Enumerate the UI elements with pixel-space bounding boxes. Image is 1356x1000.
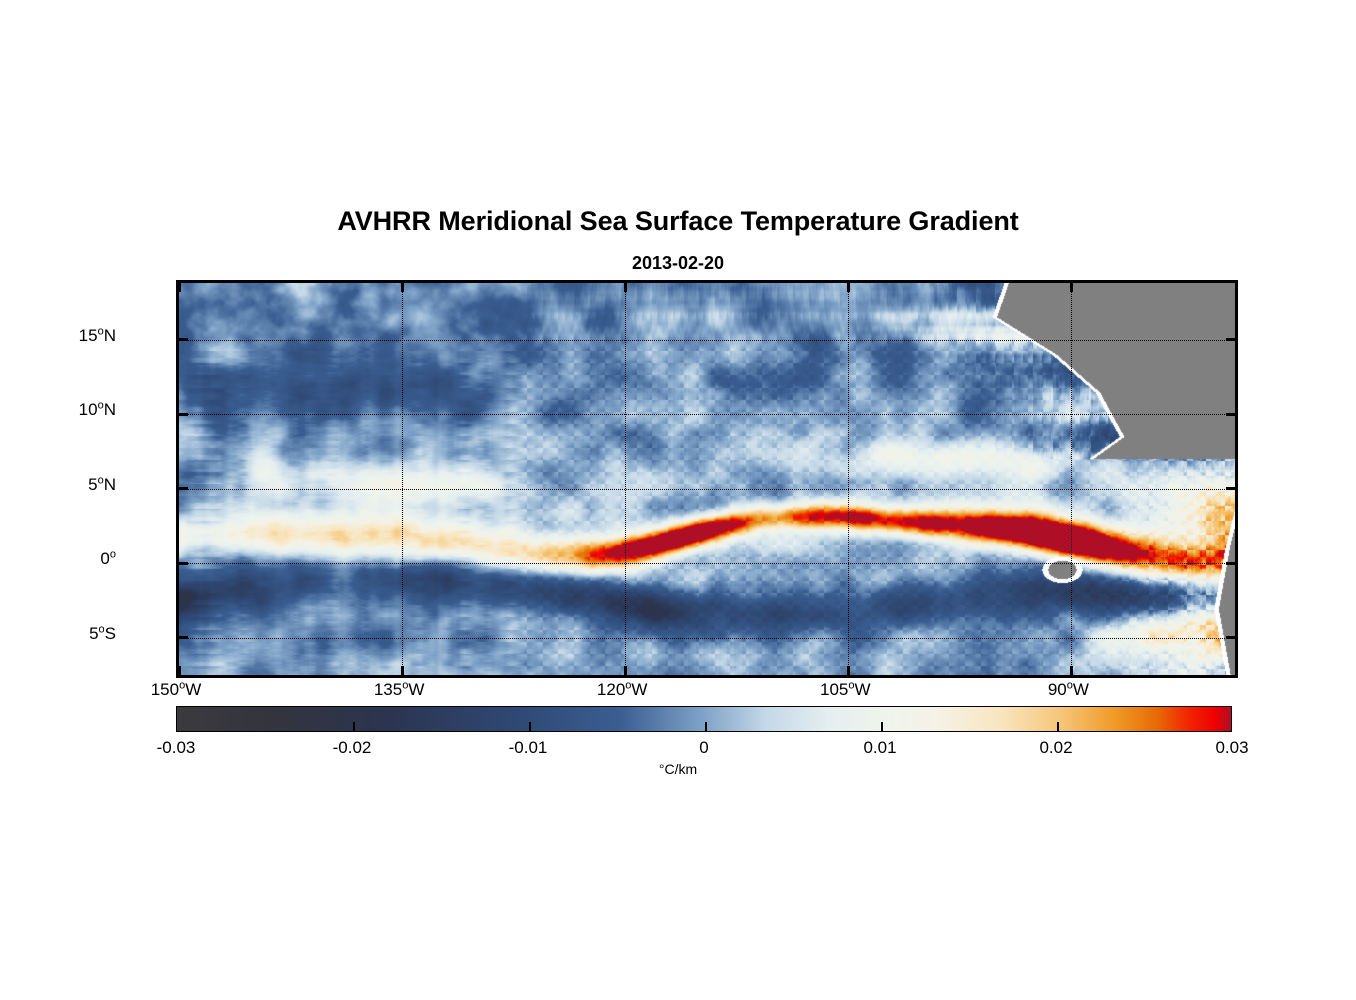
sst-gradient-heatmap bbox=[179, 283, 1235, 675]
figure-subtitle: 2013-02-20 bbox=[0, 253, 1356, 274]
tick-mark-lon bbox=[401, 666, 404, 675]
tick-mark-lon bbox=[1070, 666, 1073, 675]
y-axis-label-5S: 5oS bbox=[0, 624, 116, 644]
tick-mark-lat bbox=[1226, 338, 1235, 341]
y-axis-label-5N: 5oN bbox=[0, 475, 116, 495]
colorbar-label-4: 0.01 bbox=[815, 738, 945, 758]
page-title: AVHRR Meridional Sea Surface Temperature… bbox=[0, 206, 1356, 237]
colorbar-label-5: 0.02 bbox=[991, 738, 1121, 758]
gridline-lat bbox=[179, 414, 1235, 415]
colorbar bbox=[176, 706, 1232, 732]
tick-mark-lon bbox=[178, 283, 181, 292]
x-axis-label-120W: 120oW bbox=[562, 680, 682, 700]
y-axis-label-15N: 15oN bbox=[0, 326, 116, 346]
x-axis-label-105W: 105oW bbox=[785, 680, 905, 700]
colorbar-label-2: -0.01 bbox=[463, 738, 593, 758]
tick-mark-lat bbox=[179, 338, 188, 341]
tick-mark-lon bbox=[178, 666, 181, 675]
tick-mark-lat bbox=[1226, 636, 1235, 639]
colorbar-tick bbox=[1057, 722, 1059, 731]
colorbar-label-0: -0.03 bbox=[111, 738, 241, 758]
tick-mark-lon bbox=[1070, 283, 1073, 292]
gridline-lon bbox=[402, 283, 403, 675]
x-axis-label-150W: 150oW bbox=[116, 680, 236, 700]
colorbar-label-3: 0 bbox=[639, 738, 769, 758]
tick-mark-lon bbox=[624, 283, 627, 292]
tick-mark-lat bbox=[179, 562, 188, 565]
map-axes bbox=[176, 280, 1238, 678]
gridline-lat bbox=[179, 340, 1235, 341]
colorbar-tick bbox=[529, 722, 531, 731]
figure-canvas: AVHRR Meridional Sea Surface Temperature… bbox=[0, 0, 1356, 1000]
tick-mark-lat bbox=[179, 636, 188, 639]
gridline-lat bbox=[179, 638, 1235, 639]
tick-mark-lat bbox=[1226, 413, 1235, 416]
gridline-lon bbox=[625, 283, 626, 675]
tick-mark-lon bbox=[624, 666, 627, 675]
gridline-lon bbox=[848, 283, 849, 675]
tick-mark-lon bbox=[847, 666, 850, 675]
gridline-lat bbox=[179, 489, 1235, 490]
colorbar-label-6: 0.03 bbox=[1167, 738, 1297, 758]
gridline-lat bbox=[179, 563, 1235, 564]
tick-mark-lat bbox=[1226, 487, 1235, 490]
y-axis-label-10N: 10oN bbox=[0, 400, 116, 420]
tick-mark-lon bbox=[847, 283, 850, 292]
tick-mark-lat bbox=[179, 487, 188, 490]
colorbar-tick bbox=[881, 722, 883, 731]
colorbar-tick bbox=[705, 722, 707, 731]
x-axis-label-135W: 135oW bbox=[339, 680, 459, 700]
y-axis-label-0eq: 0o bbox=[0, 549, 116, 569]
colorbar-units-label: °C/km bbox=[0, 761, 1356, 777]
gridline-lon bbox=[1071, 283, 1072, 675]
tick-mark-lat bbox=[179, 413, 188, 416]
tick-mark-lat bbox=[1226, 562, 1235, 565]
colorbar-label-1: -0.02 bbox=[287, 738, 417, 758]
colorbar-gradient bbox=[177, 707, 1231, 731]
colorbar-tick bbox=[353, 722, 355, 731]
x-axis-label-90W: 90oW bbox=[1008, 680, 1128, 700]
tick-mark-lon bbox=[401, 283, 404, 292]
